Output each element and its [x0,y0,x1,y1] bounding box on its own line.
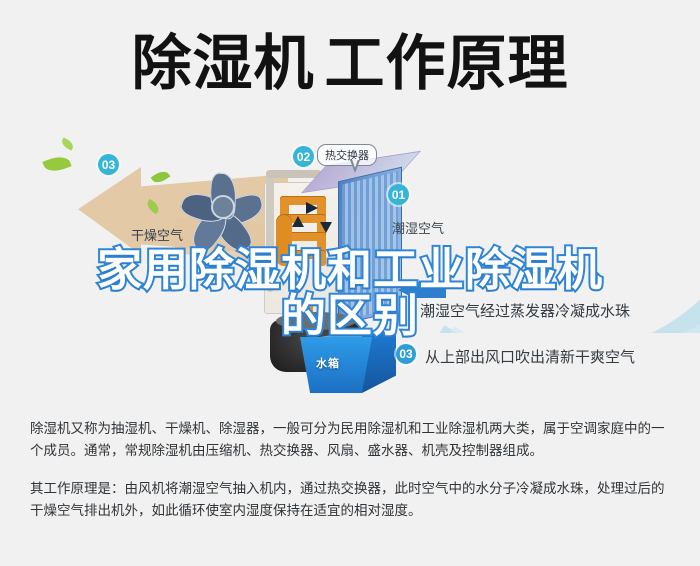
flow-arrow-down-icon [320,222,332,233]
step-caption-condensation: 潮湿空气经过蒸发器冷凝成水珠 [420,300,630,321]
dry-air-label: 干燥空气 [131,225,183,244]
page-title-text: 除湿机工作原理 [132,34,569,94]
leaf-icon [60,137,75,150]
leaf-icon [151,168,171,186]
badge-02: 02 [293,146,314,167]
page-title: 除湿机工作原理 [0,24,700,104]
air-inlet-arrow-icon [398,282,446,298]
leaf-icon [42,153,71,175]
humid-air-label: 潮湿空气 [392,218,444,237]
paragraph-definition: 除湿机又称为抽湿机、干燥机、除湿器，一般可分为民用除湿机和工业除湿机两大类，属于… [30,418,676,462]
paragraph-principle: 其工作原理是：由风机将潮湿空气抽入机内，通过热交换器，此时空气中的水分子冷凝成水… [30,478,676,522]
fan-hub-icon [211,195,235,219]
pipe-icon [266,170,274,292]
badge-01: 01 [388,184,409,205]
flow-arrow-right-icon [306,202,318,214]
pipe-icon [266,170,322,178]
page-title-part-b: 工作原理 [325,30,569,97]
water-tank-icon: 水箱 [300,329,396,401]
refrigerant-coil-icon [280,196,326,205]
step-caption-outlet: 从上部出风口吹出清新干爽空气 [425,346,635,367]
infographic-page: 除湿机工作原理 [0,0,700,566]
badge-03-caption: 03 [396,344,416,364]
receiver-tank-icon [276,214,292,266]
water-tank-label: 水箱 [316,355,340,371]
badge-03: 03 [98,154,119,175]
dehumidifier-diagram: 水箱 03 02 01 热交换器 干燥空气 潮湿空气 潮湿空气经过蒸发器冷凝成水… [0,122,700,407]
heat-exchanger-callout: 热交换器 [317,144,377,166]
page-title-part-a: 除湿机 [132,30,315,97]
callout-tail-icon [350,160,360,173]
body-copy: 除湿机又称为抽湿机、干燥机、除湿器，一般可分为民用除湿机和工业除湿机两大类，属于… [30,418,676,528]
flow-arrow-up-icon [292,216,304,227]
